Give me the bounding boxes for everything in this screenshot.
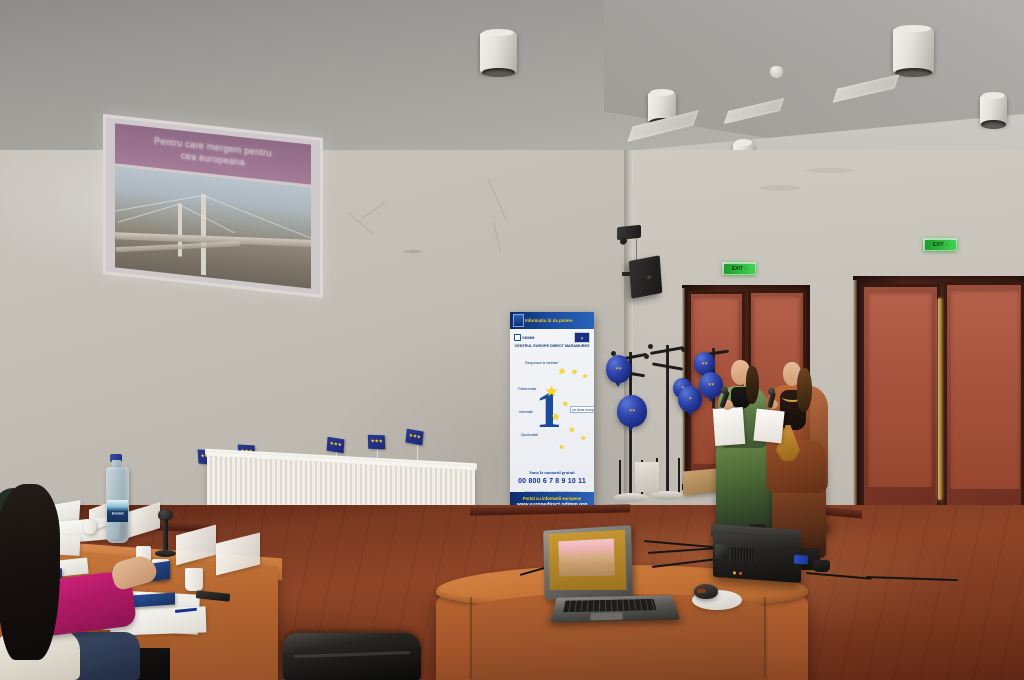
eu-stars-icon: ★★: [615, 365, 621, 370]
smoke-detector-icon: [770, 66, 783, 78]
bridge-cable-icon: [203, 195, 312, 239]
door-light-gap: [853, 280, 857, 514]
paper-cup: [185, 568, 203, 591]
banner-portal-label: Portal cu informatii europene: [523, 496, 581, 501]
banner-phone: 00 800 6 7 8 9 10 11: [510, 478, 594, 485]
coat-rack-knob: [644, 354, 649, 359]
wall-blemish: [806, 168, 854, 173]
banner-label: Informatii: [519, 410, 533, 414]
microphone-head-icon: [721, 387, 728, 394]
projector-led-icon: [733, 571, 736, 574]
laptop-screen: [548, 530, 627, 590]
presenter-rust-script: [753, 409, 784, 444]
coat-rack-knob: [648, 344, 653, 349]
eu-stars-icon: ★★: [701, 360, 707, 365]
wall-speaker: [629, 255, 663, 299]
rollup-banner: Informatia iti da putere ODIMM ★ CENTRUL…: [510, 312, 594, 525]
exit-arrow-icon: ↓: [744, 266, 747, 272]
balloon: ★★: [617, 395, 647, 427]
door-roller-blind: [950, 289, 1020, 489]
wall-blemish: [404, 250, 422, 253]
europe-direct-logo-icon: [513, 314, 524, 327]
slide-photo-bridge: [115, 166, 312, 289]
slide-title: Pentru care mergem pentru cea europeana: [150, 136, 276, 172]
presenter-green-skirt: [716, 438, 772, 538]
desk-seam: [470, 597, 472, 679]
eu-stars-icon: ★: [688, 395, 691, 400]
laptop-lid: DELL: [543, 525, 633, 600]
projector: [713, 533, 801, 583]
exit-sign: EXIT ↓: [923, 238, 957, 251]
bottle-brand-label: Izvorul: [112, 510, 124, 515]
banner-logo-row: ODIMM ★: [510, 331, 594, 344]
banner-headline: Informatia iti da putere: [525, 318, 573, 323]
eu-stars-icon: ★: [580, 335, 584, 340]
desk-microphone-pole: [163, 519, 168, 553]
projection-screen: Pentru care mergem pentru cea europeana: [103, 114, 323, 298]
eu-flag: ★★★: [405, 429, 423, 446]
conference-room-photo: Pentru care mergem pentru cea europeana …: [0, 0, 1024, 680]
balloon: ★: [678, 386, 702, 412]
coat-rack-base: [651, 491, 685, 500]
eu-stars-icon: ★★★: [408, 433, 420, 440]
eu-stars-icon: ★★: [708, 381, 714, 386]
laptop-base[interactable]: [550, 595, 680, 622]
presenter-rust-boot: [813, 560, 830, 572]
exit-sign-label: EXIT: [732, 266, 743, 272]
banner-star-icon: ★: [581, 435, 586, 442]
eu-flag-icon: ★: [574, 332, 590, 343]
participant-hair: [0, 484, 60, 660]
ceiling-spotlight: [480, 32, 517, 73]
presenter-green-hair-side: [746, 366, 759, 404]
banner-star-icon: ★: [582, 373, 587, 380]
eu-stars-icon: ★★★: [370, 439, 382, 444]
eu-stars-icon: ★★: [629, 407, 635, 412]
ceiling-spotlight: [893, 28, 934, 73]
banner-label-boxed: pe teme europene: [570, 406, 594, 413]
paper-bag: [635, 462, 659, 492]
presenter-green-script: [713, 407, 746, 446]
speaker-cable: [636, 239, 637, 261]
banner-label: Raspunsuri la intrebari: [525, 361, 558, 365]
laptop-slide-preview: [558, 539, 615, 577]
odimm-mark-icon: [514, 334, 521, 341]
exit-sign-pane: EXIT ↓: [724, 264, 755, 274]
laptop-keyboard[interactable]: [563, 599, 657, 612]
projector-lens-icon: [715, 544, 727, 560]
door-handle[interactable]: [938, 298, 942, 500]
banner-star-icon: ★: [551, 412, 560, 423]
cctv-camera-icon: [617, 225, 641, 241]
bridge-cable-icon: [179, 205, 234, 234]
projector-led-icon: [739, 572, 742, 575]
eu-flag: ★★★: [368, 435, 385, 450]
banner-cta: Suna la numarul gratuit: [510, 470, 594, 475]
exit-sign-pane: EXIT ↓: [925, 240, 956, 250]
ceiling-spotlight: [980, 95, 1007, 125]
desk-microphone-base: [155, 550, 176, 557]
coat-rack-knob: [681, 347, 686, 352]
desk-seam: [764, 597, 766, 677]
balloon: ★★: [606, 355, 631, 383]
paper-cup: [84, 519, 96, 534]
banner-subtitle: CENTRUL EUROPE DIRECT MARAMURES: [510, 344, 594, 348]
banner-graphic: 1 ★ ★ ★ ★ ★ ★ ★ ★ ★ Raspunsuri la intreb…: [510, 352, 594, 467]
projector-vent: [730, 547, 755, 563]
banner-star-icon: ★: [558, 366, 566, 377]
laptop-touchpad[interactable]: [590, 612, 624, 620]
presenter-rust-hair-side: [797, 368, 812, 412]
projector-vga-port: [794, 555, 808, 565]
banner-star-icon: ★: [562, 400, 568, 408]
cardboard-box: [683, 469, 717, 496]
eu-stars-icon: ★★★: [329, 442, 341, 449]
exit-sign-label: EXIT: [933, 242, 944, 248]
exit-sign: EXIT ↓: [722, 262, 756, 275]
banner-star-icon: ★: [559, 444, 564, 451]
exit-arrow-icon: ↓: [945, 242, 948, 248]
computer-mouse[interactable]: [694, 584, 718, 599]
foreground-chair[interactable]: [283, 633, 421, 680]
banner-star-icon: ★: [545, 383, 558, 400]
coat-rack-base: [614, 493, 648, 502]
banner-label: Parteneriate: [518, 387, 536, 391]
odimm-logo: ODIMM: [514, 334, 534, 341]
door-roller-blind: [868, 291, 932, 487]
bridge-cable-icon: [117, 204, 179, 223]
wall-blemish: [760, 185, 800, 191]
eu-flag: ★★★: [327, 437, 345, 454]
microphone-head-icon: [768, 388, 775, 395]
banner-star-icon: ★: [569, 426, 575, 434]
banner-header-bar: Informatia iti da putere: [510, 312, 594, 329]
banner-label: Oportunitati: [521, 433, 538, 437]
bottle-label: Izvorul: [107, 500, 128, 522]
banner-star-icon: ★: [571, 368, 577, 376]
odimm-logo-text: ODIMM: [522, 336, 534, 340]
